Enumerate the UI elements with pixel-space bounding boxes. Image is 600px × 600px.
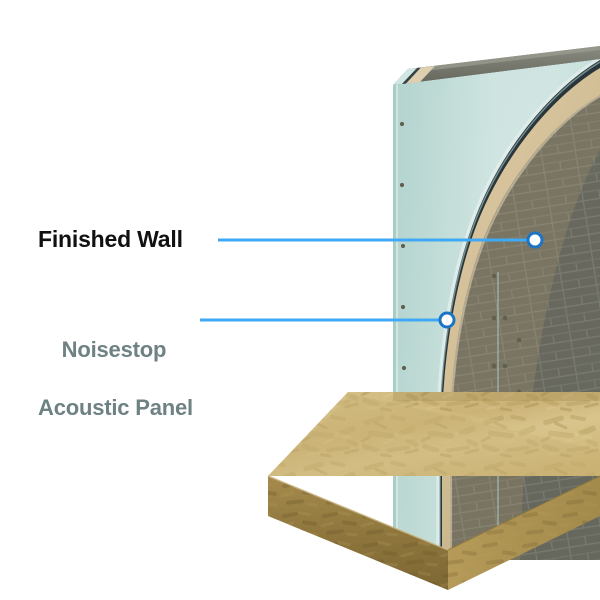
wall-assembly xyxy=(393,52,600,565)
callout-label-finished-wall: Finished Wall xyxy=(38,226,183,253)
callout-label-noisestop-acoustic-panel: Noisestop Acoustic Panel xyxy=(38,306,193,480)
diagram-canvas: Finished Wall Noisestop Acoustic Panel xyxy=(0,0,600,600)
wall-buildup-illustration xyxy=(0,0,600,600)
callout-label-line-1: Noisestop xyxy=(62,337,167,362)
callout-label-line-2: Acoustic Panel xyxy=(38,393,193,422)
